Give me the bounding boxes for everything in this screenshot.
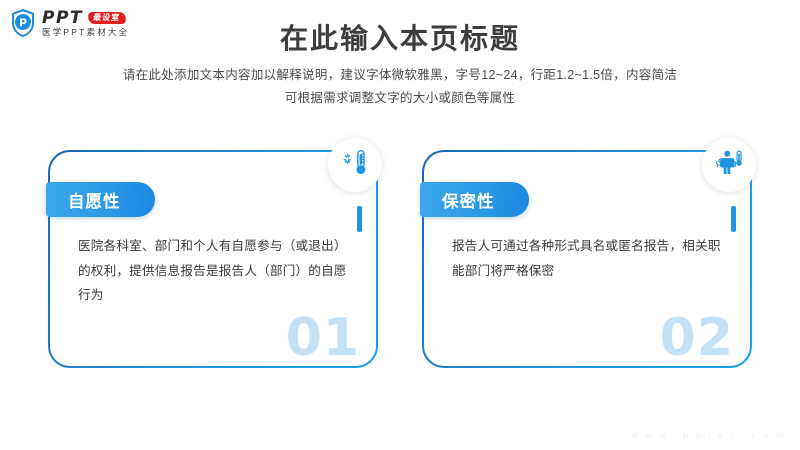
card-icon-badge[interactable]	[328, 138, 382, 192]
cards-container: 01 自愿性 医院各科室、部门和个人有自愿参与（或退出）的权利，提供信息报告是报…	[0, 150, 800, 380]
card-icon-badge[interactable]	[702, 138, 756, 192]
card-number: 02	[660, 312, 734, 364]
card-confidentiality[interactable]: 02 保密性 报告人可通过各种形式具名或匿名报告，相关职能部门将严格保密	[422, 150, 752, 368]
patient-thermometer-icon	[714, 148, 744, 183]
subtitle-line-1: 请在此处添加文本内容加以解释说明，建议字体微软雅黑，字号12~24，行距1.2~…	[0, 64, 800, 87]
card-tag-label: 自愿性	[46, 182, 155, 217]
card-tag-label: 保密性	[420, 182, 529, 217]
site-watermark: w w w . p p t e r . c o m	[631, 430, 786, 440]
page-title: 在此输入本页标题	[0, 17, 800, 57]
thermometer-icon	[340, 148, 370, 183]
card-body-text: 报告人可通过各种形式具名或匿名报告，相关职能部门将严格保密	[452, 234, 730, 283]
subtitle-line-2: 可根据需求调整文字的大小或颜色等属性	[0, 87, 800, 110]
icon-connector	[731, 206, 736, 232]
icon-connector	[357, 206, 362, 232]
card-number: 01	[286, 312, 360, 364]
card-body-text: 医院各科室、部门和个人有自愿参与（或退出）的权利，提供信息报告是报告人（部门）的…	[78, 234, 356, 308]
page-subtitle: 请在此处添加文本内容加以解释说明，建议字体微软雅黑，字号12~24，行距1.2~…	[0, 64, 800, 110]
card-voluntary[interactable]: 01 自愿性 医院各科室、部门和个人有自愿参与（或退出）的权利，提供信息报告是报…	[48, 150, 378, 368]
